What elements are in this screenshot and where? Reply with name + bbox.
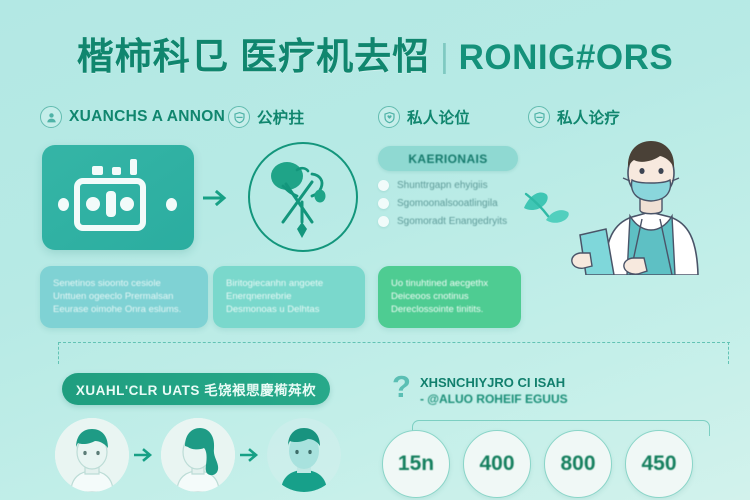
section-header-3: 私人论位 (378, 106, 470, 128)
device-dot-left (86, 197, 100, 211)
info-card-line: Unttuen ogeeclo Prermalsan (53, 290, 195, 303)
section-header-4: 私人论疗 (528, 106, 620, 128)
device-bar (106, 191, 116, 217)
stethoscope-circle-icon (248, 142, 358, 252)
list-item-label: Sgomoonalsooatlingila (397, 198, 498, 209)
shield-circle-icon (228, 106, 250, 128)
section-label: 私人论疗 (557, 106, 620, 128)
title-chinese: 楷柿科㔾 医疗机去怊 (77, 26, 430, 80)
bottom-heading-line-1: XHSNCHIYJRO CI ISAH (420, 375, 568, 390)
info-card-line: Dereclossointe tinitits. (391, 303, 508, 316)
section-label: XUANCHS A ANNON (69, 108, 225, 126)
arrow-right-icon (134, 448, 156, 462)
list-item: Sgomoonalsooatlingila (378, 198, 528, 209)
number-circle-1: 15n (382, 430, 450, 498)
info-card-line: Uo tinuhtined aecgethx (391, 277, 508, 290)
info-card-line: Senetinos sioonto cesiole (53, 277, 195, 290)
bottom-right-heading: ? XHSNCHIYJRO CI ISAH - @ALUO ROHEIF EGU… (392, 372, 568, 406)
device-port-right (166, 198, 177, 211)
bottom-heading-line-2: - @ALUO ROHEIF EGUUS (420, 392, 568, 406)
number-value: 450 (641, 452, 676, 476)
device-port-left (58, 198, 69, 211)
list-item-label: Sgomoradt Enangedryits (397, 216, 507, 227)
number-circle-2: 400 (463, 430, 531, 498)
bottom-section-pill: XUAHL'CLR UATS 毛饶裉愳慶槆荈杴 (62, 373, 330, 405)
checklist-title-pill: KAERIONAIS (378, 146, 518, 171)
medical-device-icon (42, 145, 194, 250)
info-card-2: Biritogiecanhn angoete Enerqnenrebrie De… (213, 266, 365, 328)
number-circle-3: 800 (544, 430, 612, 498)
info-card-line: Enerqnenrebrie (226, 290, 352, 303)
dashed-connector-right (728, 342, 729, 364)
device-dot-right (120, 197, 134, 211)
checklist-title: KAERIONAIS (408, 152, 487, 166)
section-header-2: 公枦拄 (228, 106, 304, 128)
bullet-icon (378, 198, 389, 209)
number-value: 400 (479, 452, 514, 476)
section-label: 公枦拄 (257, 106, 304, 128)
dashed-connector-top (58, 342, 730, 343)
heart-shield-icon (378, 106, 400, 128)
info-card-line: Deiceoos cnotinus (391, 290, 508, 303)
avatar-person-3 (267, 418, 341, 492)
section-header-1: XUANCHS A ANNON (40, 106, 225, 128)
dashed-connector-left (58, 342, 59, 364)
question-mark-icon: ? (392, 372, 411, 402)
arrow-right-icon (203, 190, 231, 206)
number-circle-4: 450 (625, 430, 693, 498)
title-divider: | (440, 37, 449, 75)
arrow-right-icon (240, 448, 262, 462)
number-value: 15n (398, 452, 434, 476)
info-card-1: Senetinos sioonto cesiole Unttuen ogeecl… (40, 266, 208, 328)
avatar-flow (55, 418, 341, 492)
number-group: 15n 400 800 450 (382, 430, 693, 498)
device-indicator-lights (92, 159, 137, 175)
section-label: 私人论位 (407, 106, 470, 128)
bullet-icon (378, 180, 389, 191)
list-item: Shunttrgapn ehyigiis (378, 180, 528, 191)
info-card-line: Eeurase oimohe Onra eslums. (53, 303, 195, 316)
bottom-pill-label: XUAHL'CLR UATS 毛饶裉愳慶槆荈杴 (76, 379, 316, 399)
poster-title: 楷柿科㔾 医疗机去怊 | RONIG#ORS (0, 26, 750, 80)
list-item: Sgomoradt Enangedryits (378, 216, 528, 227)
user-circle-icon (40, 106, 62, 128)
infographic-poster: 楷柿科㔾 医疗机去怊 | RONIG#ORS XUANCHS A ANNON 公… (0, 0, 750, 500)
avatar-person-2 (161, 418, 235, 492)
bullet-icon (378, 216, 389, 227)
title-english: RONIG#ORS (459, 38, 674, 78)
info-card-3: Uo tinuhtined aecgethx Deiceoos cnotinus… (378, 266, 521, 328)
info-card-line: Biritogiecanhn angoete (226, 277, 352, 290)
number-value: 800 (560, 452, 595, 476)
doctor-illustration (556, 130, 746, 275)
list-item-label: Shunttrgapn ehyigiis (397, 180, 488, 191)
avatar-person-1 (55, 418, 129, 492)
checklist-card: KAERIONAIS Shunttrgapn ehyigiis Sgomoona… (378, 146, 528, 227)
checklist-items: Shunttrgapn ehyigiis Sgomoonalsooatlingi… (378, 180, 528, 227)
info-card-line: Desmonoas u Delhtas (226, 303, 352, 316)
shield-circle-icon (528, 106, 550, 128)
